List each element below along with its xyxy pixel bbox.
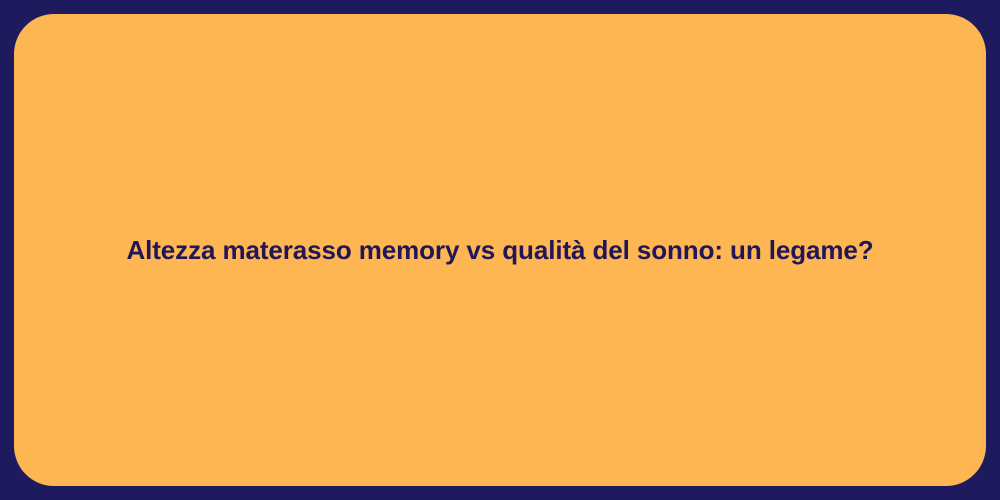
card-frame: Altezza materasso memory vs qualità del … (0, 0, 1000, 500)
page-title: Altezza materasso memory vs qualità del … (126, 234, 873, 267)
card-panel: Altezza materasso memory vs qualità del … (14, 14, 986, 486)
